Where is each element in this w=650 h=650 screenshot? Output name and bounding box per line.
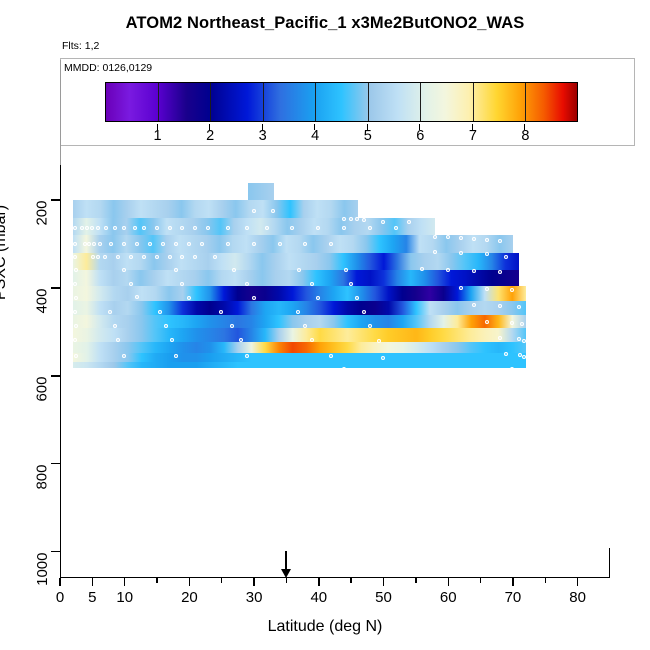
plot-right-spine-stub [609, 548, 610, 578]
x-axis-tick-label: 5 [88, 589, 96, 606]
y-axis-tick-label-wrap: 600 [0, 367, 46, 385]
x-axis-tick [92, 578, 93, 586]
x-axis-minor-tick [545, 578, 546, 583]
colorbar [105, 82, 578, 122]
y-axis-tick-label: 400 [34, 289, 51, 314]
y-axis-tick-label-wrap: 800 [0, 455, 46, 473]
colorbar-tick-label: 3 [259, 128, 267, 144]
colorbar-tick-axis: 12345678 [105, 124, 578, 146]
colorbar-tick-label: 1 [154, 128, 162, 144]
y-axis-tick-label: 1000 [34, 552, 51, 585]
colorbar-tick-label: 4 [311, 128, 319, 144]
x-axis-tick-label: 70 [505, 589, 522, 606]
latitude-pointer-arrow [281, 551, 291, 579]
x-axis-tick-label: 60 [440, 589, 457, 606]
y-axis-tick [51, 375, 60, 376]
y-axis-tick [51, 551, 60, 552]
x-axis-minor-tick [480, 578, 481, 583]
flights-label: Flts: 1,2 [62, 40, 99, 52]
x-axis-minor-tick [350, 578, 351, 583]
y-axis-tick [51, 199, 60, 200]
x-axis-tick [318, 578, 319, 586]
x-axis-tick-label: 40 [310, 589, 327, 606]
arrow-shaft [285, 551, 287, 570]
colorbar-tick-label: 6 [416, 128, 424, 144]
colorbar-separator [368, 83, 369, 121]
mmdd-label: MMDD: 0126,0129 [64, 62, 152, 74]
x-axis-tick-label: 50 [375, 589, 392, 606]
x-axis-tick-label: 10 [116, 589, 133, 606]
y-axis-tick-label: 200 [34, 201, 51, 226]
colorbar-separator [473, 83, 474, 121]
colorbar-separator [158, 83, 159, 121]
x-axis-tick [512, 578, 513, 586]
colorbar-separator [315, 83, 316, 121]
plot-frame [60, 165, 610, 578]
y-axis-tick-label-wrap: 1000 [0, 543, 46, 561]
y-axis-tick-label: 800 [34, 464, 51, 489]
colorbar-tick-label: 8 [521, 128, 529, 144]
y-axis-tick-label: 600 [34, 376, 51, 401]
x-axis-minor-tick [156, 578, 157, 583]
x-axis-tick [189, 578, 190, 586]
colorbar-gradient [106, 83, 577, 121]
x-axis-tick [124, 578, 125, 586]
colorbar-tick-label: 7 [469, 128, 477, 144]
x-axis-tick [448, 578, 449, 586]
y-axis-title: PSXC (mbar) [0, 205, 10, 300]
colorbar-separator [525, 83, 526, 121]
x-axis-title: Latitude (deg N) [0, 618, 650, 636]
x-axis-tick-label: 20 [181, 589, 198, 606]
x-axis-minor-tick [415, 578, 416, 583]
x-axis-tick-label: 30 [246, 589, 263, 606]
x-axis-tick-label: 0 [56, 589, 64, 606]
page-title: ATOM2 Northeast_Pacific_1 x3Me2ButONO2_W… [0, 14, 650, 33]
y-axis-tick [51, 287, 60, 288]
colorbar-tick-label: 2 [206, 128, 214, 144]
arrow-head [281, 569, 291, 578]
colorbar-tick-label: 5 [364, 128, 372, 144]
x-axis-tick [59, 578, 60, 586]
y-axis-upper-spine [60, 60, 61, 165]
x-axis-tick [383, 578, 384, 586]
y-axis-tick [51, 463, 60, 464]
colorbar-separator [263, 83, 264, 121]
x-axis-tick [253, 578, 254, 586]
colorbar-separator [210, 83, 211, 121]
colorbar-separator [420, 83, 421, 121]
x-axis-minor-tick [221, 578, 222, 583]
x-axis-tick [577, 578, 578, 586]
x-axis-tick-label: 80 [569, 589, 586, 606]
